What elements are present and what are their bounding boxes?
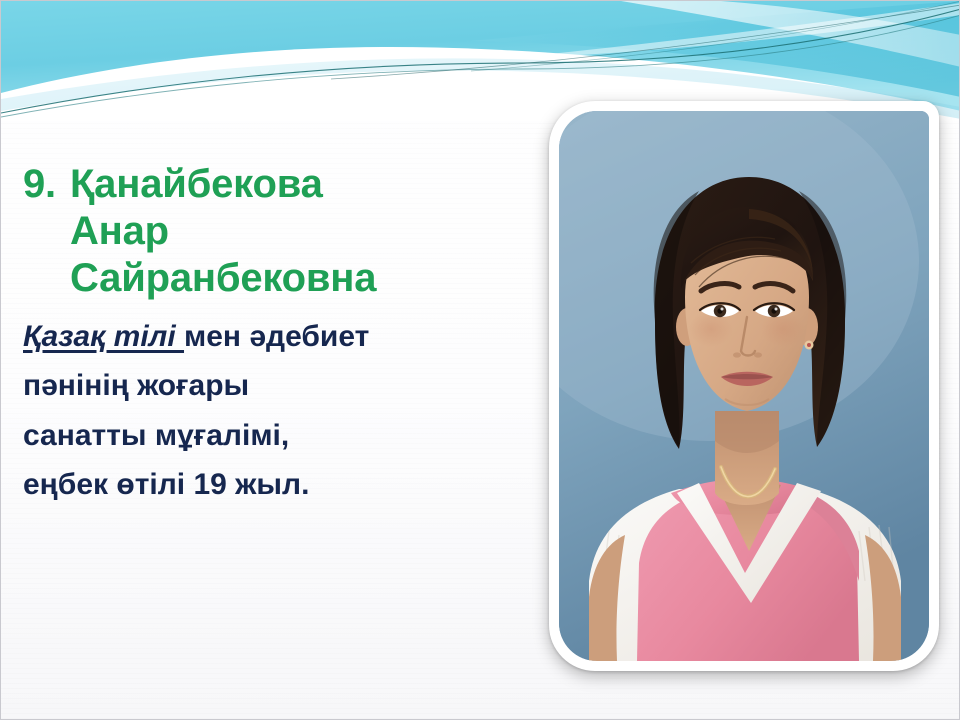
portrait-photo-frame (549, 101, 939, 671)
presentation-slide: 9. Қанайбекова Анар Сайранбековна Қазақ … (0, 0, 960, 720)
slide-text-column: 9. Қанайбекова Анар Сайранбековна Қазақ … (23, 161, 533, 515)
description-line-2: пәнінің жоғары (23, 366, 533, 406)
description-line-1-rest: мен әдебиет (184, 320, 369, 353)
portrait-illustration (559, 111, 929, 661)
description-line-1: Қазақ тілі мен әдебиет (23, 317, 533, 357)
teacher-name: Қанайбекова Анар Сайранбековна (70, 161, 533, 303)
teacher-patronymic: Сайранбековна (70, 255, 533, 302)
teacher-description: Қазақ тілі мен әдебиет пәнінің жоғары са… (23, 317, 533, 505)
subject-name: Қазақ тілі (23, 320, 184, 353)
portrait-photo (559, 111, 929, 661)
entry-title: 9. Қанайбекова Анар Сайранбековна (23, 161, 533, 303)
entry-number: 9. (23, 161, 70, 208)
teacher-firstname: Анар (70, 208, 533, 255)
teacher-surname: Қанайбекова (70, 161, 533, 208)
description-line-3: санатты мұғалімі, (23, 416, 533, 456)
description-line-4: еңбек өтілі 19 жыл. (23, 465, 533, 505)
